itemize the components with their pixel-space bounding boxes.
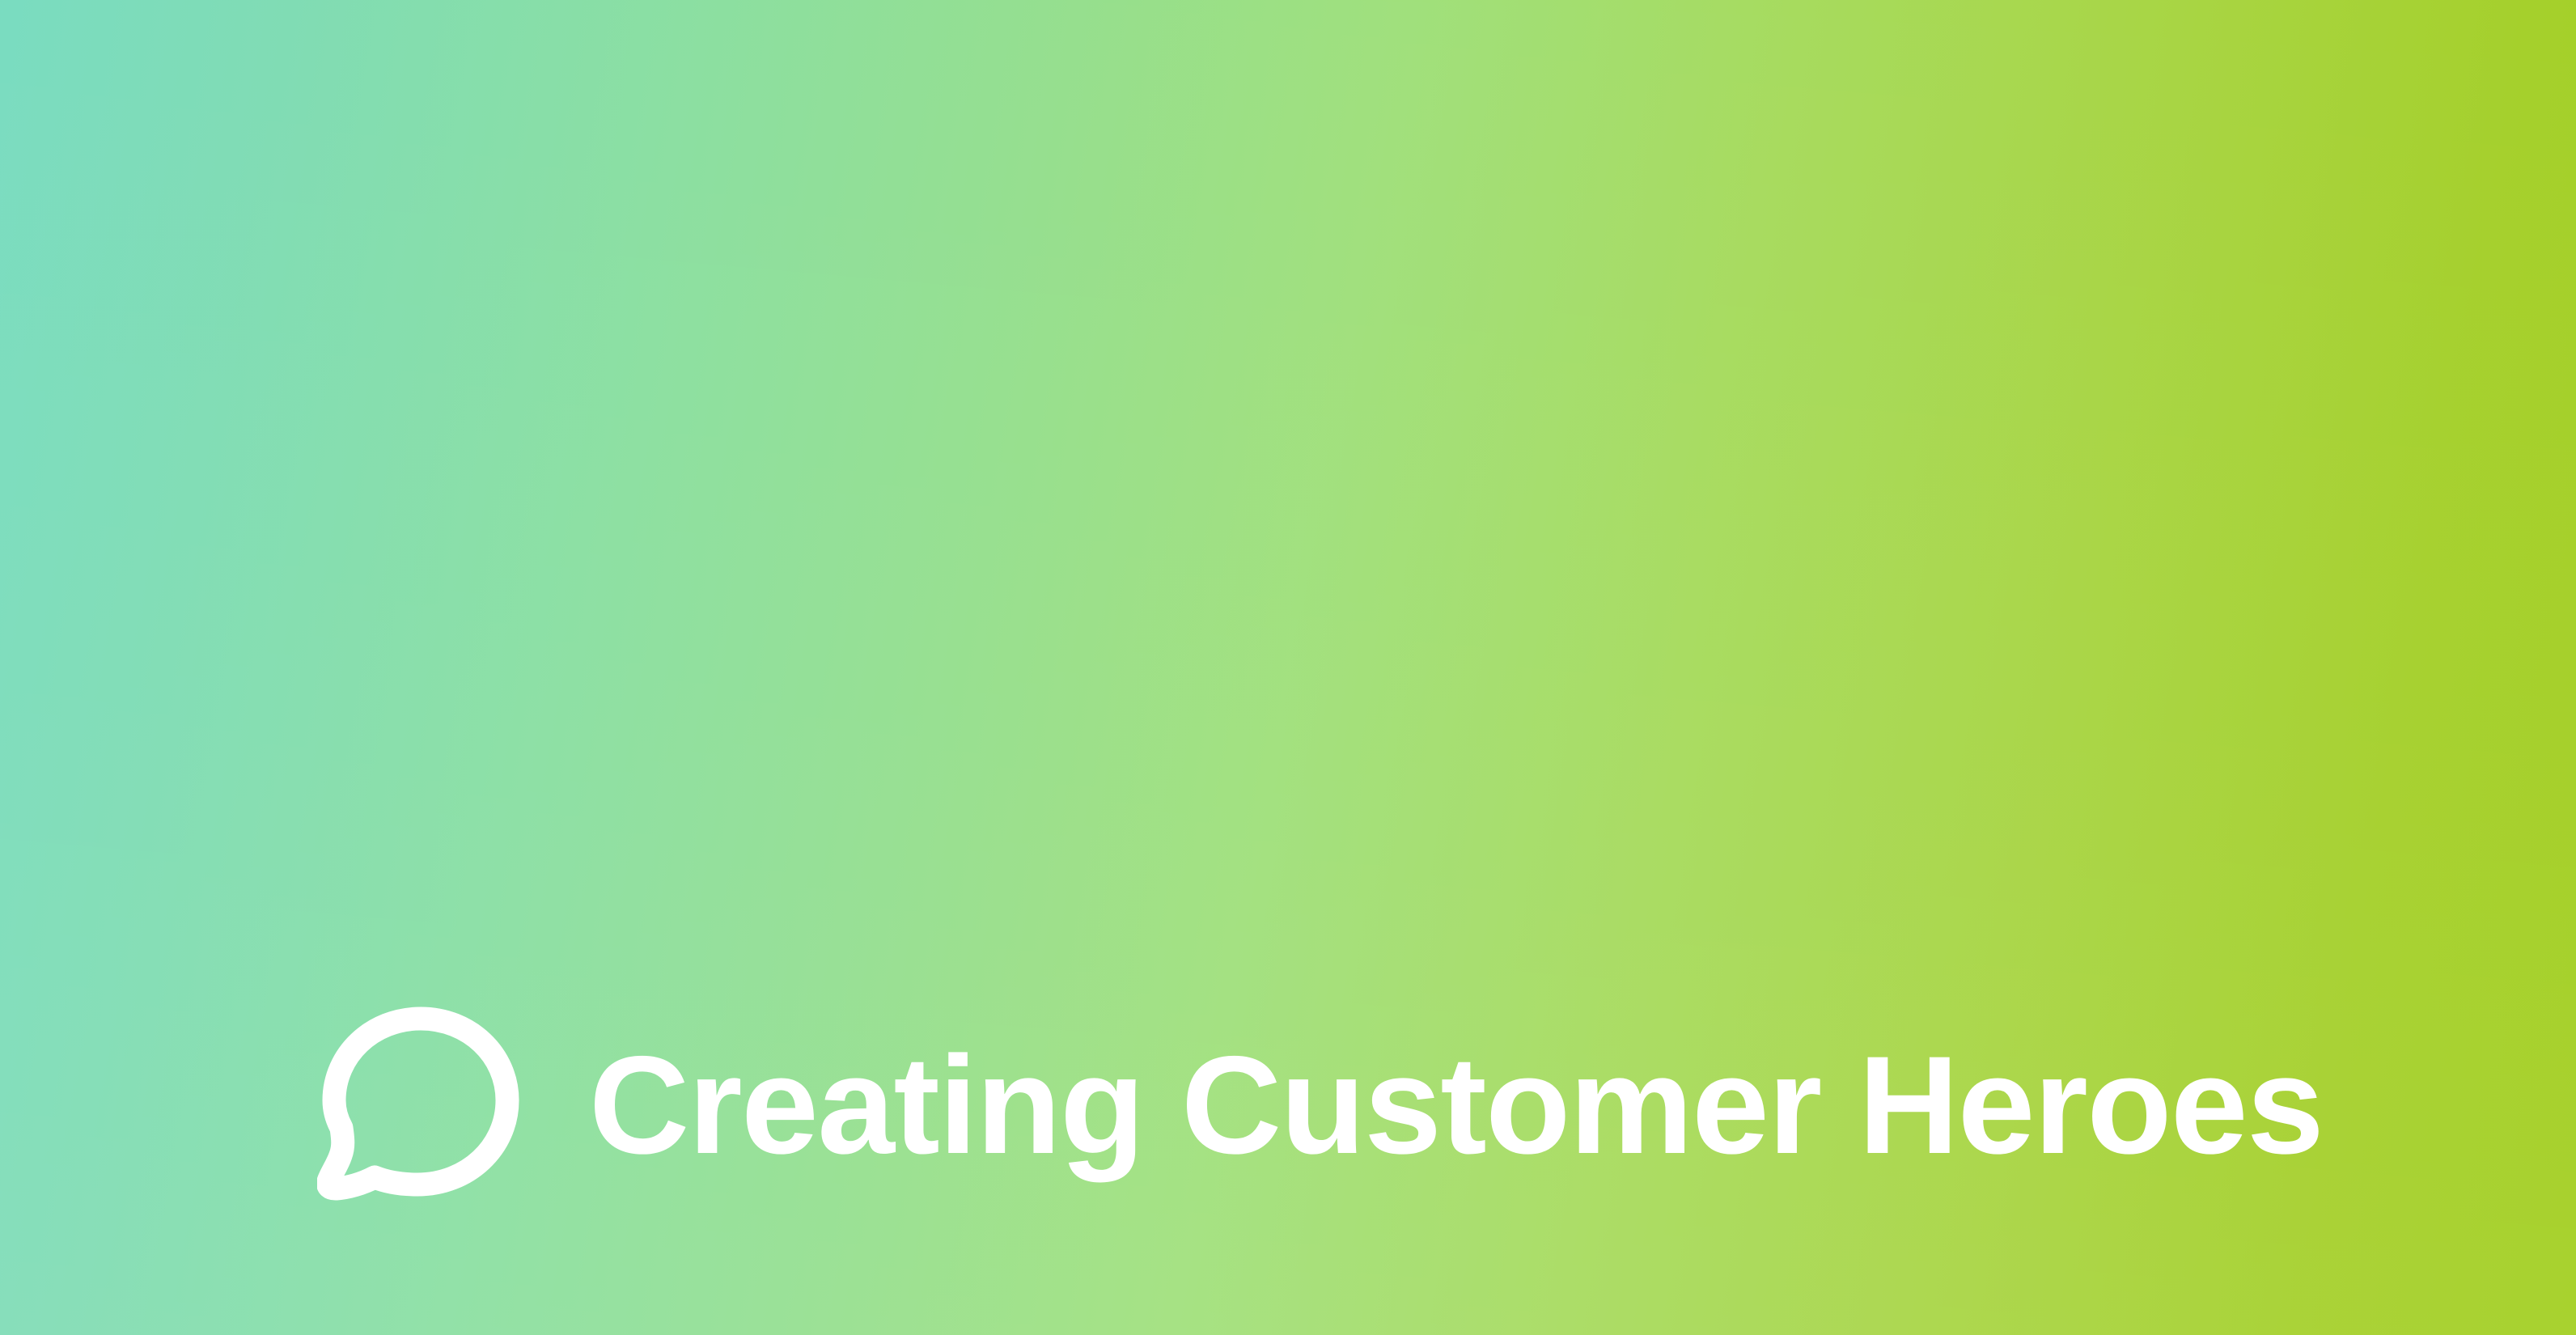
page-title: Creating Customer Heroes [589,1036,2323,1175]
speech-bubble-icon [317,1005,521,1202]
brand-banner: Creating Customer Heroes [0,0,2576,1335]
logo-lockup: Creating Customer Heroes [317,1005,2323,1199]
